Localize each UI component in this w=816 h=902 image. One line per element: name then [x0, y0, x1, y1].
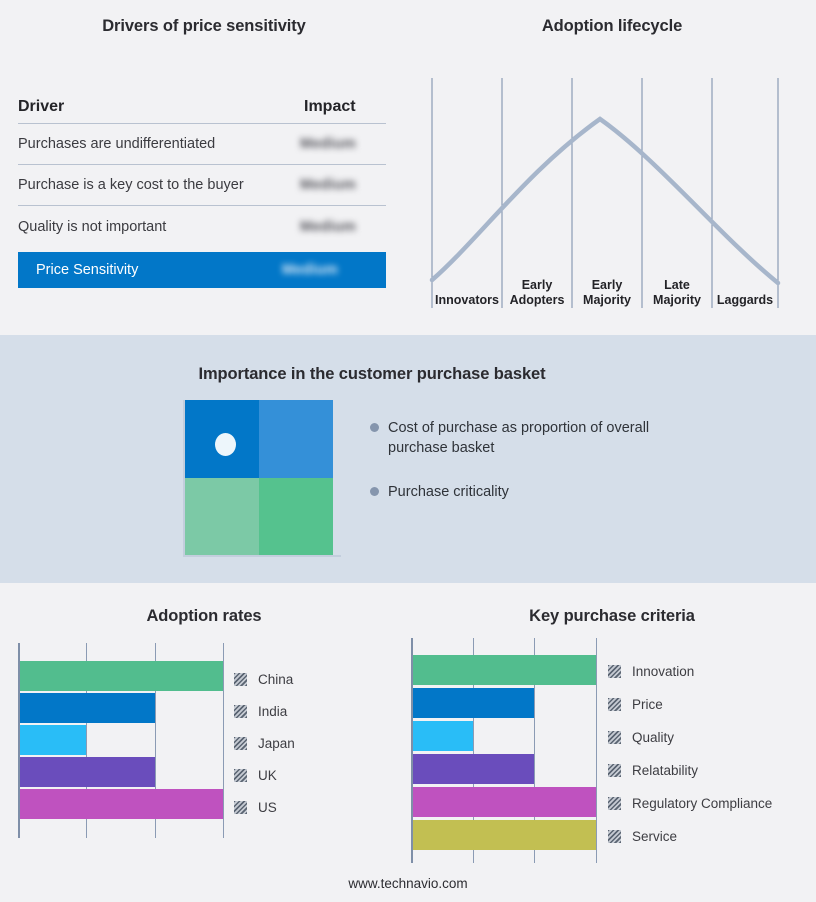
bar [413, 787, 596, 817]
quadrant-matrix [183, 400, 333, 557]
summary-label: Price Sensitivity [36, 262, 282, 278]
legend-swatch-icon [608, 665, 621, 678]
impact-value: Medium [300, 136, 386, 152]
adoption-curve [432, 119, 778, 283]
table-row: Quality is not important Medium [18, 206, 386, 247]
segment-label-early-adopters: Early Adopters [502, 278, 572, 308]
legend-item: UK [234, 759, 295, 791]
summary-impact-value: Medium [282, 262, 386, 278]
bar [413, 655, 596, 685]
bar [413, 688, 534, 718]
legend-label: UK [258, 768, 277, 783]
quadrant-cell-bottom-left [185, 478, 259, 556]
legend-dot-icon [370, 487, 379, 496]
legend-swatch-icon [608, 731, 621, 744]
legend-dot-icon [370, 423, 379, 432]
legend-label: Innovation [632, 664, 694, 679]
bar [413, 754, 534, 784]
legend-item: Purchase criticality [370, 482, 670, 502]
legend-item: Quality [608, 721, 772, 754]
adoption-rates-title: Adoption rates [0, 607, 408, 626]
key-purchase-criteria-panel: Key purchase criteria InnovationPriceQua… [408, 583, 816, 902]
drivers-table: Driver Impact Purchases are undifferenti… [18, 90, 386, 288]
legend-label: US [258, 800, 277, 815]
drivers-panel: Drivers of price sensitivity Driver Impa… [0, 0, 408, 335]
legend-label: Quality [632, 730, 674, 745]
legend-item: Innovation [608, 655, 772, 688]
purchase-basket-title: Importance in the customer purchase bask… [0, 365, 744, 384]
adoption-lifecycle-panel: Adoption lifecycle Innovators Early Adop… [408, 0, 816, 335]
legend-label: Regulatory Compliance [632, 796, 772, 811]
bar [20, 693, 155, 723]
gridline [223, 643, 224, 838]
bar [413, 820, 596, 850]
legend-item: Regulatory Compliance [608, 787, 772, 820]
legend-swatch-icon [234, 737, 247, 750]
bar [20, 661, 223, 691]
price-sensitivity-summary-row: Price Sensitivity Medium [18, 252, 386, 288]
footer-url: www.technavio.com [0, 876, 816, 891]
bar [20, 789, 223, 819]
bar [20, 757, 155, 787]
legend-label: Purchase criticality [388, 482, 509, 502]
legend-item: Service [608, 820, 772, 853]
plot-area [411, 638, 596, 863]
legend-label: Cost of purchase as proportion of overal… [388, 418, 670, 458]
legend-item: India [234, 695, 295, 727]
drivers-title: Drivers of price sensitivity [0, 17, 408, 36]
legend-item: China [234, 663, 295, 695]
impact-value: Medium [300, 177, 386, 193]
legend-label: China [258, 672, 293, 687]
legend-swatch-icon [234, 673, 247, 686]
legend-item: US [234, 791, 295, 823]
driver-label: Purchases are undifferentiated [18, 136, 300, 152]
bar [20, 725, 86, 755]
legend-label: Service [632, 829, 677, 844]
key-purchase-criteria-chart [411, 638, 596, 863]
legend-item: Japan [234, 727, 295, 759]
bell-curve-chart [408, 60, 816, 310]
plot-area [18, 643, 223, 838]
legend-swatch-icon [608, 764, 621, 777]
column-header-driver: Driver [18, 98, 304, 116]
quadrant-cell-top-left [185, 400, 259, 478]
table-row: Purchases are undifferentiated Medium [18, 124, 386, 165]
segment-label-late-majority: Late Majority [642, 278, 712, 308]
segment-label-innovators: Innovators [432, 293, 502, 308]
legend-item: Price [608, 688, 772, 721]
legend-label: Relatability [632, 763, 698, 778]
table-row: Purchase is a key cost to the buyer Medi… [18, 165, 386, 206]
legend-label: India [258, 704, 287, 719]
legend-swatch-icon [234, 801, 247, 814]
legend-item: Relatability [608, 754, 772, 787]
quadrant-axis-line [183, 555, 341, 557]
driver-label: Quality is not important [18, 219, 300, 235]
adoption-lifecycle-title: Adoption lifecycle [408, 17, 816, 36]
position-marker-dot [215, 433, 236, 456]
quadrant-cell-top-right [259, 400, 333, 478]
legend-swatch-icon [234, 705, 247, 718]
gridline [596, 638, 597, 863]
legend-label: Price [632, 697, 663, 712]
purchase-basket-legend: Cost of purchase as proportion of overal… [370, 418, 670, 526]
adoption-rates-legend: ChinaIndiaJapanUKUS [234, 663, 295, 823]
adoption-rates-panel: Adoption rates ChinaIndiaJapanUKUS [0, 583, 408, 902]
segment-label-laggards: Laggards [712, 293, 778, 308]
driver-label: Purchase is a key cost to the buyer [18, 177, 300, 193]
legend-swatch-icon [608, 797, 621, 810]
legend-label: Japan [258, 736, 295, 751]
table-header-row: Driver Impact [18, 90, 386, 124]
column-header-impact: Impact [304, 98, 386, 116]
legend-swatch-icon [608, 830, 621, 843]
legend-swatch-icon [234, 769, 247, 782]
legend-item: Cost of purchase as proportion of overal… [370, 418, 670, 458]
quadrant-cell-bottom-right [259, 478, 333, 556]
legend-swatch-icon [608, 698, 621, 711]
key-purchase-criteria-title: Key purchase criteria [408, 607, 816, 626]
key-purchase-criteria-legend: InnovationPriceQualityRelatabilityRegula… [608, 655, 772, 853]
bar [413, 721, 473, 751]
impact-value: Medium [300, 219, 386, 235]
adoption-rates-chart [18, 643, 223, 838]
segment-label-early-majority: Early Majority [572, 278, 642, 308]
